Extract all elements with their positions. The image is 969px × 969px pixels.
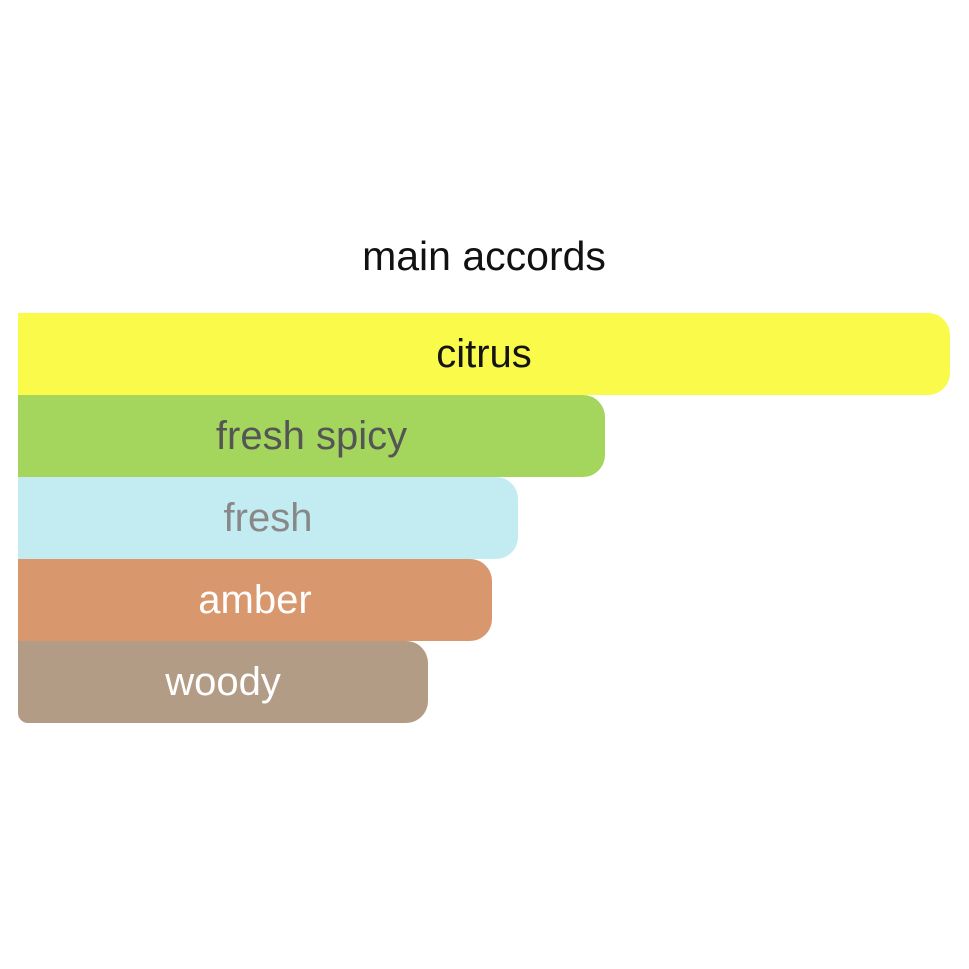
accord-bar-label: woody: [165, 662, 281, 702]
accord-bar-row: fresh spicy: [18, 395, 950, 477]
accord-bar[interactable]: fresh: [18, 477, 518, 559]
accord-bar[interactable]: citrus: [18, 313, 950, 395]
accord-bar-row: woody: [18, 641, 950, 723]
chart-title: main accords: [18, 228, 950, 284]
accord-bar[interactable]: woody: [18, 641, 428, 723]
accord-bar-list: citrusfresh spicyfreshamberwoody: [18, 313, 950, 723]
accord-bar-row: amber: [18, 559, 950, 641]
main-accords-chart: main accords citrusfresh spicyfreshamber…: [0, 0, 969, 969]
accord-bar-row: fresh: [18, 477, 950, 559]
accord-bar[interactable]: amber: [18, 559, 492, 641]
accord-bar-label: citrus: [436, 334, 532, 374]
main-accords-widget: main accords citrusfresh spicyfreshamber…: [0, 0, 969, 969]
accord-bar[interactable]: fresh spicy: [18, 395, 605, 477]
accord-bar-label: amber: [198, 580, 311, 620]
accord-bar-label: fresh spicy: [216, 416, 407, 456]
accord-bar-label: fresh: [224, 498, 313, 538]
accord-bar-row: citrus: [18, 313, 950, 395]
